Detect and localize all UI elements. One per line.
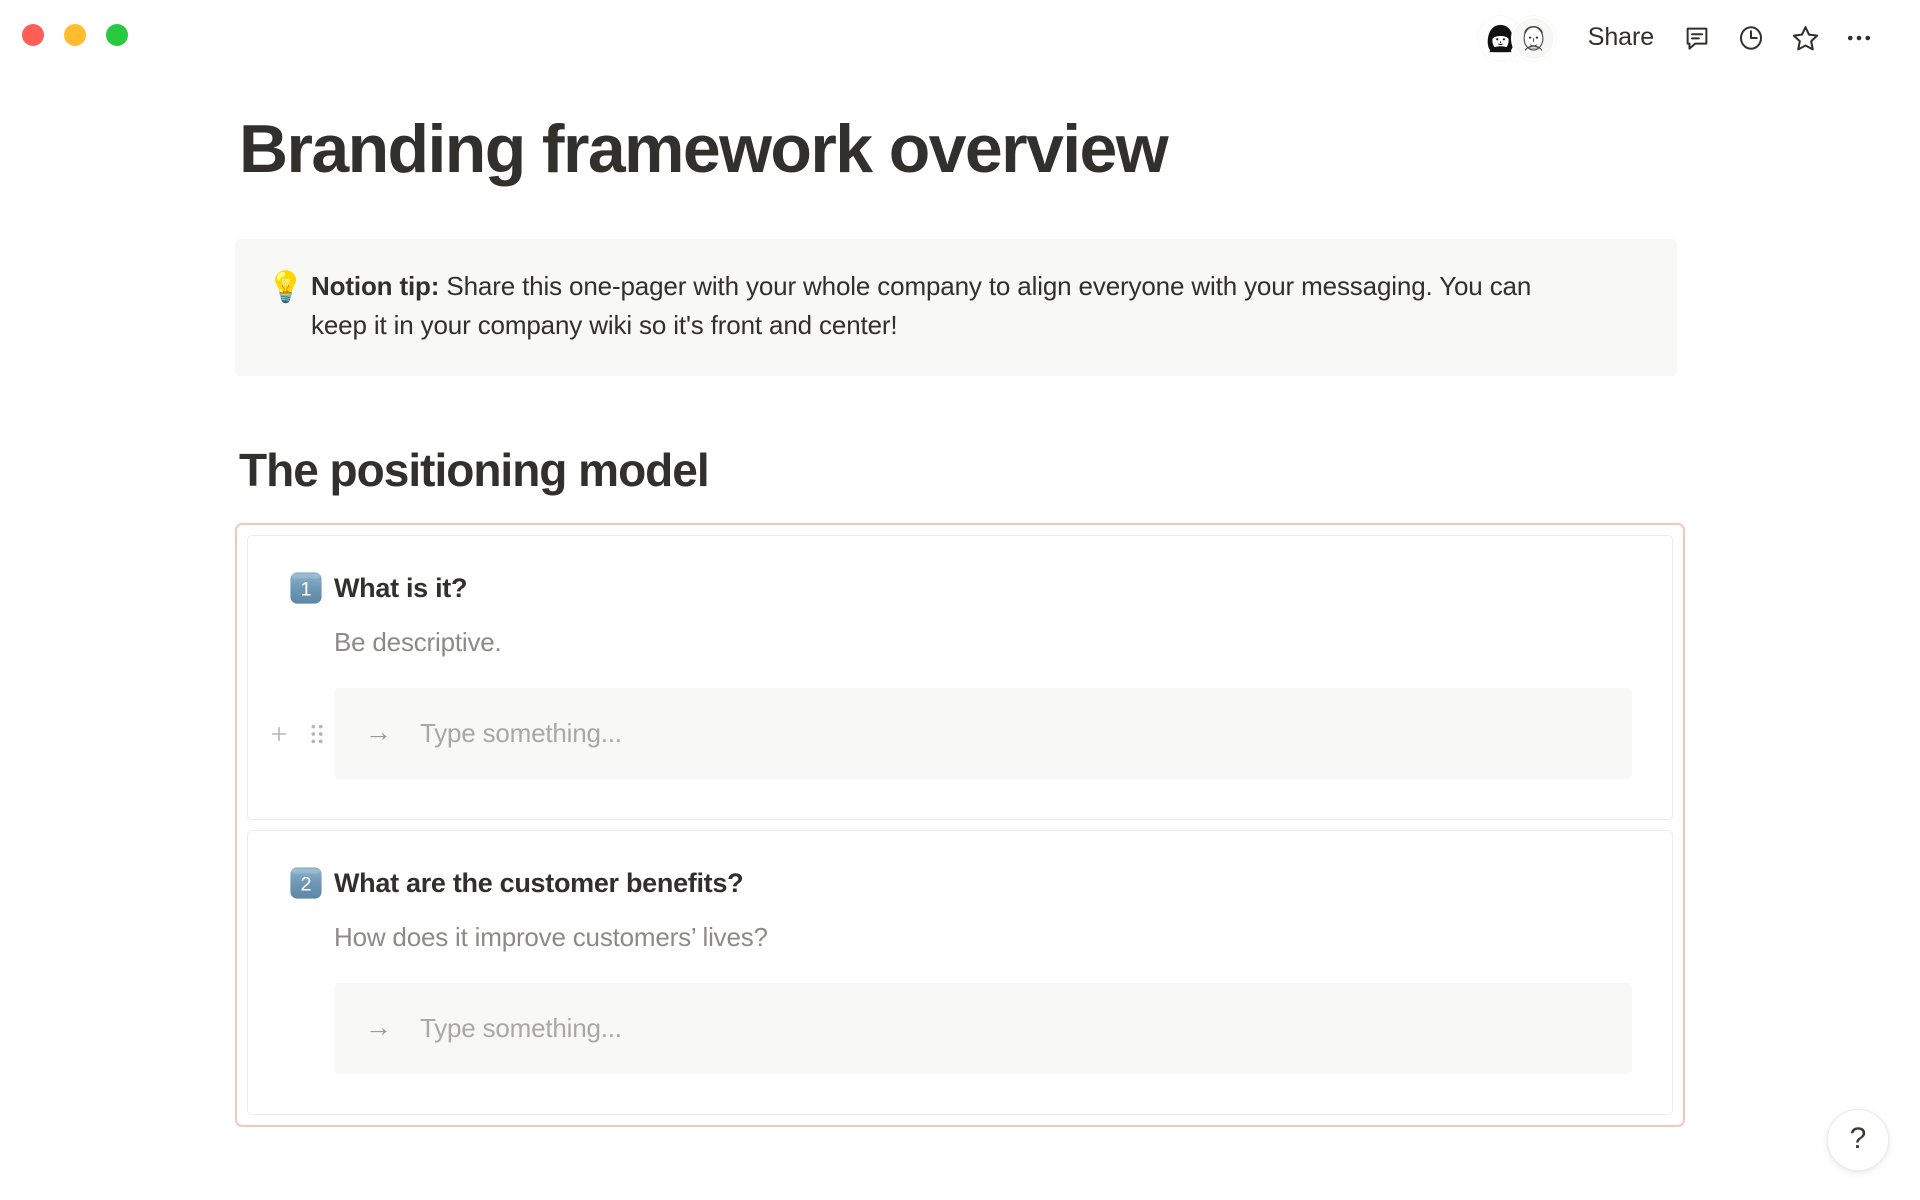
help-button-label: ? bbox=[1850, 1124, 1867, 1154]
question-title: What are the customer benefits? bbox=[334, 866, 743, 901]
more-icon[interactable] bbox=[1832, 14, 1886, 62]
question-subtitle: How does it improve customers’ lives? bbox=[334, 921, 1632, 955]
answer-input[interactable]: → Type something... bbox=[334, 983, 1632, 1074]
lightbulb-emoji: 💡 bbox=[267, 268, 311, 308]
question-card[interactable]: 2 What are the customer benefits? How do… bbox=[247, 830, 1673, 1115]
block-handles bbox=[264, 717, 332, 751]
clock-icon[interactable] bbox=[1724, 14, 1778, 62]
answer-input[interactable]: → Type something... bbox=[334, 688, 1632, 779]
avatar[interactable] bbox=[1511, 16, 1556, 61]
synced-block-container[interactable]: 1 What is it? Be descriptive. bbox=[235, 523, 1685, 1127]
answer-input-row: → Type something... bbox=[334, 983, 1632, 1074]
window-titlebar: Share bbox=[0, 0, 1920, 76]
topbar-actions: Share bbox=[1478, 0, 1886, 76]
comment-icon[interactable] bbox=[1670, 14, 1724, 62]
help-button[interactable]: ? bbox=[1827, 1109, 1889, 1171]
question-header: 2 What are the customer benefits? bbox=[288, 865, 1632, 901]
page-content: Branding framework overview 💡 Notion tip… bbox=[235, 76, 1685, 1127]
answer-input-placeholder: Type something... bbox=[420, 718, 622, 749]
minimize-window-button[interactable] bbox=[64, 24, 86, 46]
drag-handle-icon[interactable] bbox=[302, 717, 332, 751]
keycap-two-icon: 2 bbox=[288, 865, 324, 901]
answer-input-placeholder: Type something... bbox=[420, 1013, 622, 1044]
svg-text:1: 1 bbox=[300, 579, 311, 601]
close-window-button[interactable] bbox=[22, 24, 44, 46]
callout-body: Share this one-pager with your whole com… bbox=[311, 271, 1531, 341]
keycap-one-icon: 1 bbox=[288, 570, 324, 606]
callout-lead: Notion tip: bbox=[311, 271, 439, 301]
window-controls bbox=[22, 24, 128, 46]
section-heading[interactable]: The positioning model bbox=[235, 442, 1685, 500]
arrow-right-icon: → bbox=[365, 1014, 392, 1041]
page-scroll-area[interactable]: Branding framework overview 💡 Notion tip… bbox=[0, 76, 1920, 1200]
svg-text:2: 2 bbox=[300, 874, 311, 896]
question-card[interactable]: 1 What is it? Be descriptive. bbox=[247, 535, 1673, 820]
avatar-stack[interactable] bbox=[1478, 16, 1556, 61]
question-header: 1 What is it? bbox=[288, 570, 1632, 606]
add-block-button[interactable] bbox=[264, 717, 294, 751]
question-title: What is it? bbox=[334, 571, 467, 606]
share-button[interactable]: Share bbox=[1578, 17, 1670, 60]
page-title[interactable]: Branding framework overview bbox=[235, 110, 1685, 189]
callout-text: Notion tip: Share this one-pager with yo… bbox=[311, 267, 1551, 346]
arrow-right-icon: → bbox=[365, 719, 392, 746]
star-icon[interactable] bbox=[1778, 14, 1832, 62]
answer-input-row: → Type something... bbox=[334, 688, 1632, 779]
question-subtitle: Be descriptive. bbox=[334, 626, 1632, 660]
callout-block[interactable]: 💡 Notion tip: Share this one-pager with … bbox=[235, 239, 1677, 376]
maximize-window-button[interactable] bbox=[106, 24, 128, 46]
